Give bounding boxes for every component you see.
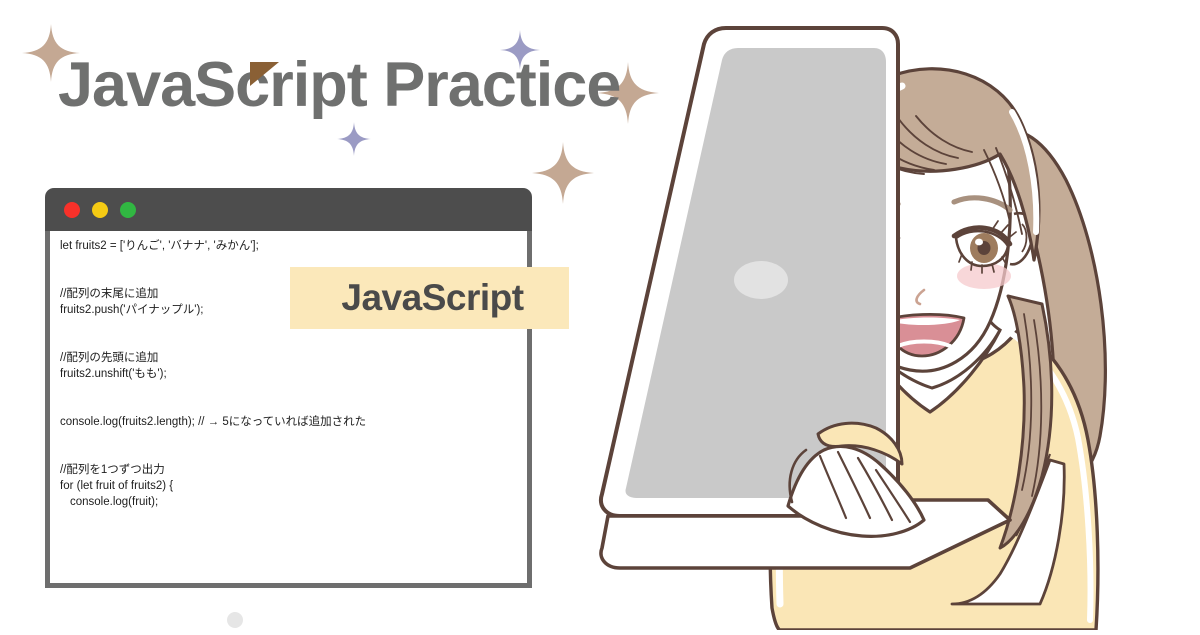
code-window: let fruits2 = ['りんご', 'バナナ', 'みかん'];//配列… xyxy=(45,188,532,588)
code-line: //配列を1つずつ出力 xyxy=(60,463,530,479)
code-line: console.log(fruit); xyxy=(60,495,530,511)
minimize-button-dot[interactable] xyxy=(92,202,108,218)
sparkle-purple-mid xyxy=(337,122,371,156)
code-line: fruits2.unshift('もも'); xyxy=(60,367,530,383)
ribbon-label: JavaScript xyxy=(290,267,569,329)
close-button-dot[interactable] xyxy=(64,202,80,218)
code-line: console.log(fruits2.length); // → 5になってい… xyxy=(60,415,530,431)
code-line xyxy=(60,431,530,447)
ribbon-banner: JavaScript xyxy=(290,267,569,329)
code-line xyxy=(60,447,530,463)
page-title: JavaScript Practice xyxy=(58,52,620,118)
decorative-dot xyxy=(227,612,243,628)
illustration-woman-typing xyxy=(580,8,1200,630)
code-line: for (let fruit of fruits2) { xyxy=(60,479,530,495)
code-line xyxy=(60,383,530,399)
code-line xyxy=(60,335,530,351)
code-line: let fruits2 = ['りんご', 'バナナ', 'みかん']; xyxy=(60,239,530,255)
ribbon-fold-icon xyxy=(250,62,279,86)
maximize-button-dot[interactable] xyxy=(120,202,136,218)
poster-canvas: JavaScript Practice let fruits2 = ['りんご'… xyxy=(0,0,1200,630)
window-titlebar xyxy=(45,188,532,231)
code-line: //配列の先頭に追加 xyxy=(60,351,530,367)
code-line xyxy=(60,399,530,415)
